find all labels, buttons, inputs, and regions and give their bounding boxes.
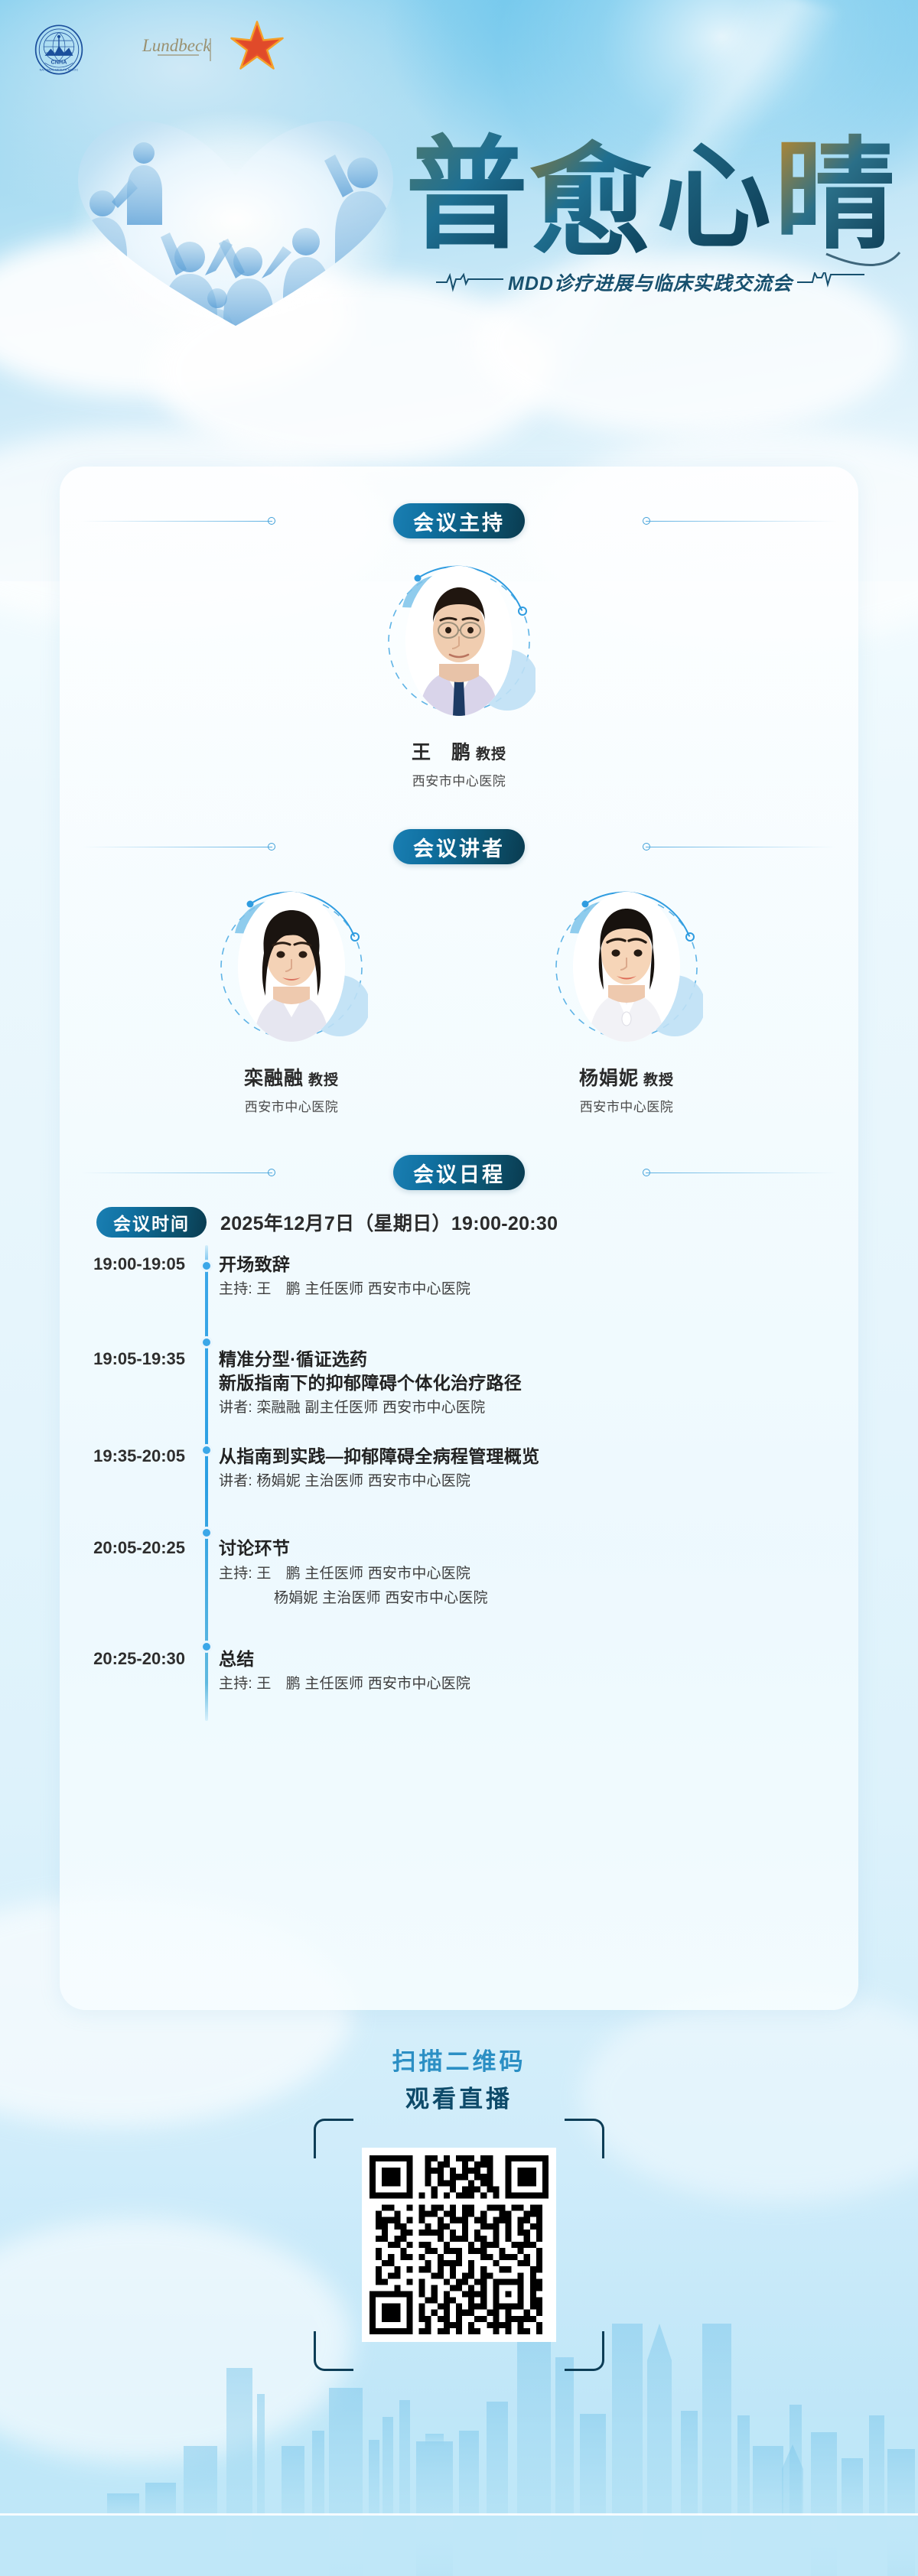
agenda-body: 总结 主持: 王 鹏 主任医师 西安市中心医院: [219, 1634, 470, 1695]
cnha-logo-icon: CNHA NATIONAL HEALTH ASSOC: [34, 24, 84, 75]
section-title-speakers: 会议讲者: [393, 829, 525, 864]
avatar: [382, 554, 535, 730]
person-name-speaker-2: 杨娟妮教授: [579, 1063, 674, 1091]
title-char-2: 愈: [529, 135, 652, 269]
agenda-time: 19:05-19:35: [60, 1329, 196, 1419]
agenda-time: 20:25-20:30: [60, 1634, 196, 1695]
agenda-title: 开场致辞: [219, 1253, 470, 1276]
person-card-speaker-1: 栾融融教授 西安市中心医院: [181, 880, 402, 1115]
section-header-host: 会议主持: [60, 499, 858, 543]
agenda-row: 20:25-20:30 总结 主持: 王 鹏 主任医师 西安市中心医院: [60, 1620, 858, 1706]
svg-text:Lundbeck: Lundbeck: [142, 36, 211, 55]
title-char-4: 晴: [774, 130, 895, 264]
agenda-subtitle-extra: 杨娟妮 主治医师 西安市中心医院: [219, 1589, 488, 1609]
agenda-title: 总结: [219, 1647, 470, 1670]
agenda-row: 19:05-19:35 精准分型·循证选药 新版指南下的抑郁障碍个体化治疗路径 …: [60, 1311, 858, 1429]
section-title-agenda: 会议日程: [393, 1155, 525, 1190]
main-title-calligraphy: 普 愈 心 晴: [398, 124, 903, 269]
section-title-host: 会议主持: [393, 503, 525, 538]
person-card-host: 王 鹏教授 西安市中心医院: [348, 554, 570, 789]
speaker-2-degree-text: 教授: [643, 1072, 674, 1088]
agenda-time: 20:05-20:25: [60, 1520, 196, 1608]
svg-text:NATIONAL HEALTH ASSOC: NATIONAL HEALTH ASSOC: [40, 69, 79, 72]
speaker-1-degree-text: 教授: [308, 1072, 339, 1088]
agenda-body: 开场致辞 主持: 王 鹏 主任医师 西安市中心医院: [219, 1253, 470, 1300]
qr-section: 扫描二维码 观看直播: [0, 2042, 918, 2440]
agenda-title-line-2: 新版指南下的抑郁障碍个体化治疗路径: [219, 1371, 522, 1394]
ecg-line-left-icon: [436, 272, 503, 292]
main-content-card: 会议主持: [60, 467, 858, 2010]
agenda-body: 精准分型·循证选药 新版指南下的抑郁障碍个体化治疗路径 讲者: 栾融融 副主任医…: [219, 1329, 522, 1419]
agenda-list: 19:00-19:05 开场致辞 主持: 王 鹏 主任医师 西安市中心医院 19…: [60, 1245, 858, 1721]
agenda-subtitle: 讲者: 栾融融 副主任医师 西安市中心医院: [219, 1398, 522, 1419]
title-char-3: 心: [656, 135, 771, 262]
agenda-row: 19:00-19:05 开场致辞 主持: 王 鹏 主任医师 西安市中心医院: [60, 1253, 858, 1311]
subtitle-row: MDD诊疗进展与临床实践交流会: [398, 265, 903, 300]
agenda-time: 19:00-19:05: [60, 1253, 196, 1300]
section-header-speakers: 会议讲者: [60, 825, 858, 869]
person-name-speaker-1: 栾融融教授: [244, 1063, 339, 1091]
speaker-2-name-text: 杨娟妮: [579, 1068, 639, 1089]
portrait-female-icon: [238, 892, 345, 1042]
agenda-subtitle: 讲者: 杨娟妮 主治医师 西安市中心医院: [219, 1472, 539, 1492]
ecg-line-right-icon: [797, 272, 864, 292]
agenda-timeline-dot-icon: [200, 1336, 213, 1348]
agenda-title-line-1: 精准分型·循证选药: [219, 1348, 522, 1371]
poster-title-area: 普 愈 心 晴 MDD诊疗进展与临床实践交流会: [0, 115, 918, 359]
agenda-subtitle: 主持: 王 鹏 主任医师 西安市中心医院: [219, 1280, 470, 1300]
divider-ring-left-icon: [268, 843, 275, 851]
divider-line-right: [646, 847, 837, 847]
host-degree-text: 教授: [476, 746, 506, 763]
speaker-1-name-text: 栾融融: [244, 1068, 304, 1089]
divider-line-left: [81, 1173, 272, 1173]
host-row: 王 鹏教授 西安市中心医院: [60, 554, 858, 789]
host-name-text: 王 鹏: [412, 742, 471, 763]
agenda-timeline-dot-icon: [200, 1444, 213, 1456]
agenda-timeline-dot-icon: [200, 1260, 213, 1272]
divider-line-right: [646, 1173, 837, 1173]
qr-frame: [314, 2119, 604, 2371]
agenda-title: 讨论环节: [219, 1537, 488, 1560]
header-logos: CNHA NATIONAL HEALTH ASSOC Lundbeck: [0, 0, 918, 92]
agenda-body: 讨论环节 主持: 王 鹏 主任医师 西安市中心医院 杨娟妮 主治医师 西安市中心…: [219, 1520, 488, 1608]
agenda-time: 19:35-20:05: [60, 1437, 196, 1492]
meeting-time-badge: 会议时间: [96, 1207, 207, 1238]
person-name-host: 王 鹏教授: [412, 737, 506, 765]
person-org-speaker-1: 西安市中心医院: [245, 1096, 339, 1115]
section-header-agenda: 会议日程: [60, 1150, 858, 1195]
subtitle-text: MDD诊疗进展与临床实践交流会: [508, 268, 793, 296]
agenda-row: 20:05-20:25 讨论环节 主持: 王 鹏 主任医师 西安市中心医院 杨娟…: [60, 1503, 858, 1619]
qr-corner-bottom-left-icon: [314, 2331, 353, 2371]
lundbeck-logo-icon: Lundbeck: [141, 29, 225, 66]
qr-title-line-2: 观看直播: [0, 2080, 918, 2114]
avatar-photo-speaker-2: [573, 892, 680, 1042]
portrait-female-icon: [573, 892, 680, 1042]
qr-code-image[interactable]: [362, 2148, 556, 2342]
person-org-host: 西安市中心医院: [412, 770, 506, 789]
qr-corner-bottom-right-icon: [565, 2331, 604, 2371]
divider-line-left: [81, 847, 272, 847]
svg-text:CNHA: CNHA: [51, 58, 68, 65]
avatar: [550, 880, 703, 1055]
agenda-subtitle: 主持: 王 鹏 主任医师 西安市中心医院: [219, 1674, 470, 1695]
divider-ring-left-icon: [268, 517, 275, 525]
meeting-time-value: 2025年12月7日（星期日）19:00-20:30: [220, 1208, 558, 1236]
agenda-subtitle: 主持: 王 鹏 主任医师 西安市中心医院: [219, 1564, 488, 1585]
agenda-timeline-dot-icon: [200, 1641, 213, 1653]
qr-code-icon: [369, 2155, 549, 2334]
agenda-title: 从指南到实践—抑郁障碍全病程管理概览: [219, 1445, 539, 1468]
divider-line-right: [646, 521, 837, 522]
divider-ring-left-icon: [268, 1169, 275, 1176]
agenda-timeline-dot-icon: [200, 1527, 213, 1539]
portrait-male-icon: [405, 566, 513, 716]
qr-corner-top-right-icon: [565, 2119, 604, 2158]
starfish-icon: [229, 20, 285, 70]
avatar-photo-host: [405, 566, 513, 716]
person-card-speaker-2: 杨娟妮教授 西安市中心医院: [516, 880, 737, 1115]
meeting-time-row: 会议时间 2025年12月7日（星期日）19:00-20:30: [96, 1207, 858, 1238]
avatar: [215, 880, 368, 1055]
speakers-row: 栾融融教授 西安市中心医院: [60, 880, 858, 1115]
title-char-1: 普: [405, 128, 528, 264]
avatar-photo-speaker-1: [238, 892, 345, 1042]
divider-line-left: [81, 521, 272, 522]
agenda-row: 19:35-20:05 从指南到实践—抑郁障碍全病程管理概览 讲者: 杨娟妮 主…: [60, 1429, 858, 1503]
qr-corner-top-left-icon: [314, 2119, 353, 2158]
person-org-speaker-2: 西安市中心医院: [580, 1096, 674, 1115]
qr-title-line-1: 扫描二维码: [0, 2042, 918, 2077]
agenda-body: 从指南到实践—抑郁障碍全病程管理概览 讲者: 杨娟妮 主治医师 西安市中心医院: [219, 1437, 539, 1492]
